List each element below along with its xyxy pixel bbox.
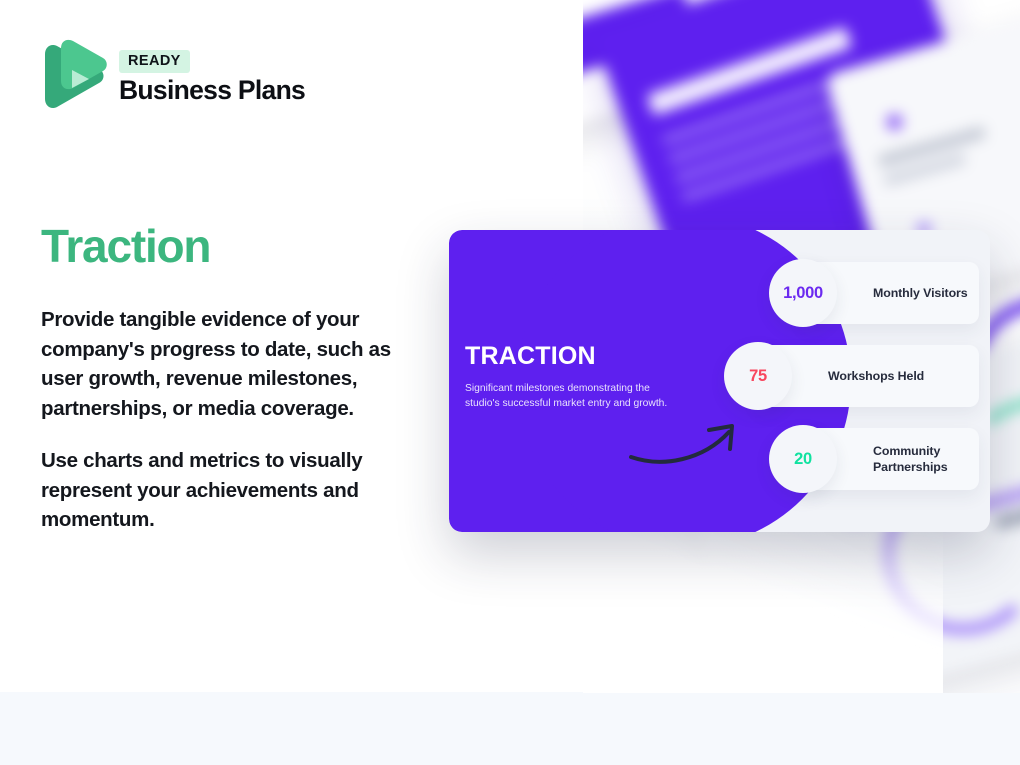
metric-bubble: 1,000 xyxy=(769,259,837,327)
metric-label: Workshops Held xyxy=(828,368,924,384)
traction-slide-card[interactable]: TRACTION Significant milestones demonstr… xyxy=(449,230,990,532)
metric-value: 75 xyxy=(749,367,767,386)
metric-bubble: 20 xyxy=(769,425,837,493)
body-copy: Provide tangible evidence of your compan… xyxy=(41,305,421,535)
slide-text-block: TRACTION Significant milestones demonstr… xyxy=(465,342,675,412)
metric-item[interactable]: Community Partnerships 20 xyxy=(769,428,990,490)
brand-name: Business Plans xyxy=(119,77,305,105)
play-triangle-logo-icon xyxy=(41,38,107,116)
metric-item[interactable]: Monthly Visitors 1,000 xyxy=(769,262,990,324)
metric-item[interactable]: Workshops Held 75 xyxy=(724,345,990,407)
metric-value: 1,000 xyxy=(783,284,823,303)
slide-template-preview-page: READY Business Plans Traction Provide ta… xyxy=(0,0,1020,765)
metric-value: 20 xyxy=(794,450,812,469)
body-paragraph-1: Provide tangible evidence of your compan… xyxy=(41,305,421,424)
body-paragraph-2: Use charts and metrics to visually repre… xyxy=(41,446,421,535)
slide-dot-shape xyxy=(885,112,905,132)
metric-label: Community Partnerships xyxy=(873,443,979,475)
page-title: Traction xyxy=(41,219,210,273)
brand-text-block: READY Business Plans xyxy=(119,50,305,105)
slide-subtitle: Significant milestones demonstrating the… xyxy=(465,382,675,412)
slide-title: TRACTION xyxy=(465,342,675,371)
metric-label: Monthly Visitors xyxy=(873,285,968,301)
brand-logo-row[interactable]: READY Business Plans xyxy=(41,38,305,116)
metric-bubble: 75 xyxy=(724,342,792,410)
bottom-strip xyxy=(0,692,1020,765)
ready-badge: READY xyxy=(119,50,190,73)
metrics-list: Monthly Visitors 1,000 Workshops Held 75… xyxy=(665,262,990,511)
